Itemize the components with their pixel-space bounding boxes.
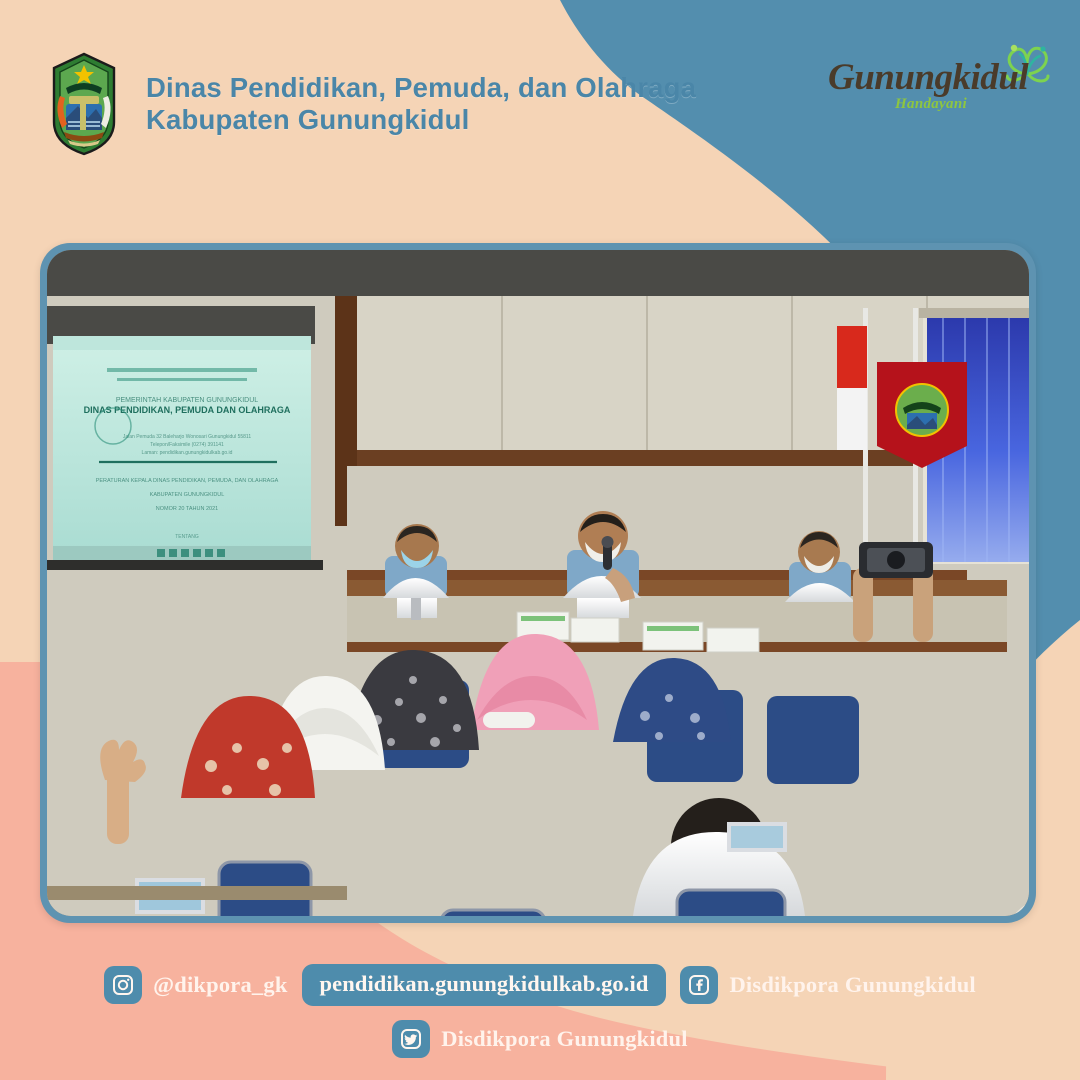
brand-tagline: Handayani xyxy=(856,96,1006,113)
meeting-photo-illustration: PEMERINTAH KABUPATEN GUNUNGKIDUL DINAS P… xyxy=(47,250,1029,916)
facebook-handle-label: Disdikpora Gunungkidul xyxy=(729,972,975,998)
instagram-icon[interactable] xyxy=(104,966,142,1004)
header-title-block: Dinas Pendidikan, Pemuda, dan Olahraga K… xyxy=(146,72,696,137)
twitter-icon[interactable] xyxy=(392,1020,430,1058)
brand-wordmark: Gunungkidul xyxy=(828,56,1028,99)
header: Dinas Pendidikan, Pemuda, dan Olahraga K… xyxy=(44,52,696,156)
footer-social-bar: @dikpora_gk pendidikan.gunungkidulkab.go… xyxy=(0,964,1080,1058)
svg-text:PERATURAN KEPALA DINAS PENDIDI: PERATURAN KEPALA DINAS PENDIDIKAN, PEMUD… xyxy=(96,478,279,484)
instagram-handle-item[interactable]: @dikpora_gk xyxy=(104,966,287,1004)
website-url-button[interactable]: pendidikan.gunungkidulkab.go.id xyxy=(302,964,667,1006)
meeting-photo: PEMERINTAH KABUPATEN GUNUNGKIDUL DINAS P… xyxy=(47,250,1029,916)
svg-text:NOMOR 20 TAHUN 2021: NOMOR 20 TAHUN 2021 xyxy=(156,506,218,512)
svg-text:TENTANG: TENTANG xyxy=(175,534,199,540)
twitter-handle-item[interactable]: Disdikpora Gunungkidul xyxy=(392,1020,687,1058)
svg-text:Laman: pendidikan.gunungkidulk: Laman: pendidikan.gunungkidulkab.go.id xyxy=(142,450,233,456)
footer-row-1: @dikpora_gk pendidikan.gunungkidulkab.go… xyxy=(0,964,1080,1006)
header-line-2: Kabupaten Gunungkidul xyxy=(146,104,696,136)
svg-text:PEMERINTAH KABUPATEN GUNUNGKID: PEMERINTAH KABUPATEN GUNUNGKIDUL xyxy=(116,397,258,404)
svg-text:Jalan Pemuda 32 Baleharjo Wono: Jalan Pemuda 32 Baleharjo Wonosari Gunun… xyxy=(123,434,251,440)
header-line-1: Dinas Pendidikan, Pemuda, dan Olahraga xyxy=(146,72,696,104)
instagram-handle-label: @dikpora_gk xyxy=(153,972,287,998)
svg-text:KABUPATEN GUNUNGKIDUL: KABUPATEN GUNUNGKIDUL xyxy=(150,492,225,498)
facebook-handle-item[interactable]: Disdikpora Gunungkidul xyxy=(680,966,975,1004)
gunungkidul-regency-crest-icon xyxy=(44,52,124,156)
facebook-icon[interactable] xyxy=(680,966,718,1004)
poster-canvas: Dinas Pendidikan, Pemuda, dan Olahraga K… xyxy=(0,0,1080,1080)
twitter-handle-label: Disdikpora Gunungkidul xyxy=(441,1026,687,1052)
gunungkidul-brand: Gunungkidul Handayani xyxy=(828,38,1058,130)
svg-text:Telepon/Faksimile (0274) 39114: Telepon/Faksimile (0274) 391141 xyxy=(150,442,224,448)
footer-row-2: Disdikpora Gunungkidul xyxy=(0,1020,1080,1058)
svg-text:DINAS PENDIDIKAN, PEMUDA DAN O: DINAS PENDIDIKAN, PEMUDA DAN OLAHRAGA xyxy=(84,405,291,415)
photo-card-frame: PEMERINTAH KABUPATEN GUNUNGKIDUL DINAS P… xyxy=(40,243,1036,923)
